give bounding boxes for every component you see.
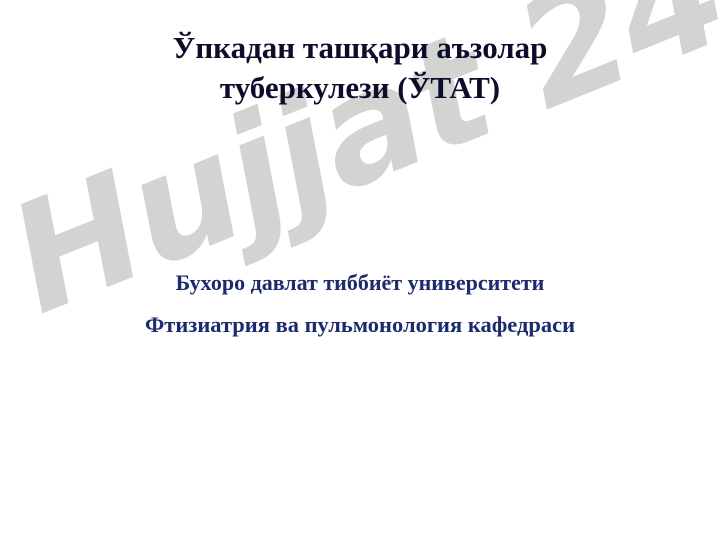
slide-subtitle: Бухоро давлат тиббиёт университети Фтизи… bbox=[30, 262, 690, 347]
presentation-slide: Hujjat 24 Ўпкадан ташқари аъзолар туберк… bbox=[0, 0, 720, 540]
slide-title: Ўпкадан ташқари аъзолар туберкулези (ЎТА… bbox=[60, 28, 660, 107]
slide-subtitle-line-2: Фтизиатрия ва пульмонология кафедраси bbox=[30, 304, 690, 347]
slide-title-line-2: туберкулези (ЎТАТ) bbox=[60, 68, 660, 108]
slide-title-line-1: Ўпкадан ташқари аъзолар bbox=[60, 28, 660, 68]
slide-subtitle-line-1: Бухоро давлат тиббиёт университети bbox=[30, 262, 690, 304]
